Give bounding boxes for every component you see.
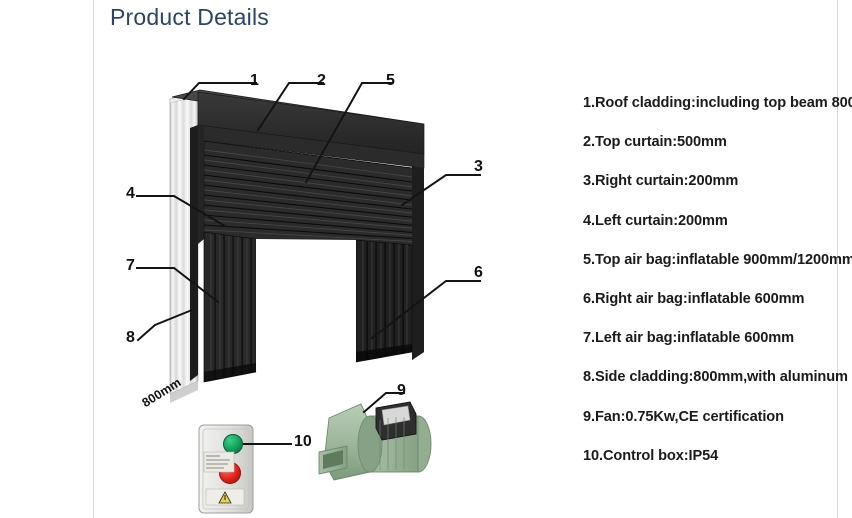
spec-item-2: 2.Top curtain:500mm — [583, 135, 852, 150]
roof-cladding-part — [172, 90, 424, 154]
callout-5: 5 — [386, 73, 395, 89]
spec-item-4: 4.Left curtain:200mm — [583, 214, 852, 229]
spec-item-7: 7.Left air bag:inflatable 600mm — [583, 331, 852, 346]
spec-item-8: 8.Side cladding:800mm,with aluminum fram… — [583, 370, 852, 385]
control-box-part — [199, 425, 253, 513]
spec-item-10: 10.Control box:IP54 — [583, 449, 852, 464]
spec-item-5: 5.Top air bag:inflatable 900mm/1200mm — [583, 253, 852, 268]
spec-list: 1.Roof cladding:including top beam 800mm… — [583, 96, 852, 488]
callout-6: 6 — [474, 265, 483, 281]
spec-item-6: 6.Right air bag:inflatable 600mm — [583, 292, 852, 307]
spec-item-9: 9.Fan:0.75Kw,CE certification — [583, 410, 852, 425]
fan-part — [319, 402, 431, 480]
callout-1: 1 — [250, 73, 259, 89]
callout-9: 9 — [397, 383, 406, 399]
right-air-bag-part — [356, 240, 412, 362]
callout-4: 4 — [126, 186, 135, 202]
callout-7: 7 — [126, 258, 135, 274]
callout-3: 3 — [474, 159, 483, 175]
screenshot-root: Product Details — [0, 0, 852, 518]
page-title: Product Details — [110, 4, 269, 31]
callout-2: 2 — [317, 73, 326, 89]
callout-10: 10 — [294, 434, 312, 450]
spec-item-3: 3.Right curtain:200mm — [583, 174, 852, 189]
top-curtain-part — [198, 125, 424, 168]
dimension-label-800mm: 800mm — [140, 375, 184, 410]
callout-leader-lines — [137, 83, 480, 444]
spec-item-1: 1.Roof cladding:including top beam 800mm — [583, 96, 852, 111]
product-details-card: Product Details — [93, 0, 838, 518]
right-curtain-part — [412, 166, 424, 360]
top-air-bag-part — [204, 141, 420, 246]
callout-8: 8 — [126, 330, 135, 346]
left-air-bag-part — [204, 232, 256, 382]
side-cladding-part — [170, 92, 198, 403]
left-curtain-part — [190, 125, 204, 381]
